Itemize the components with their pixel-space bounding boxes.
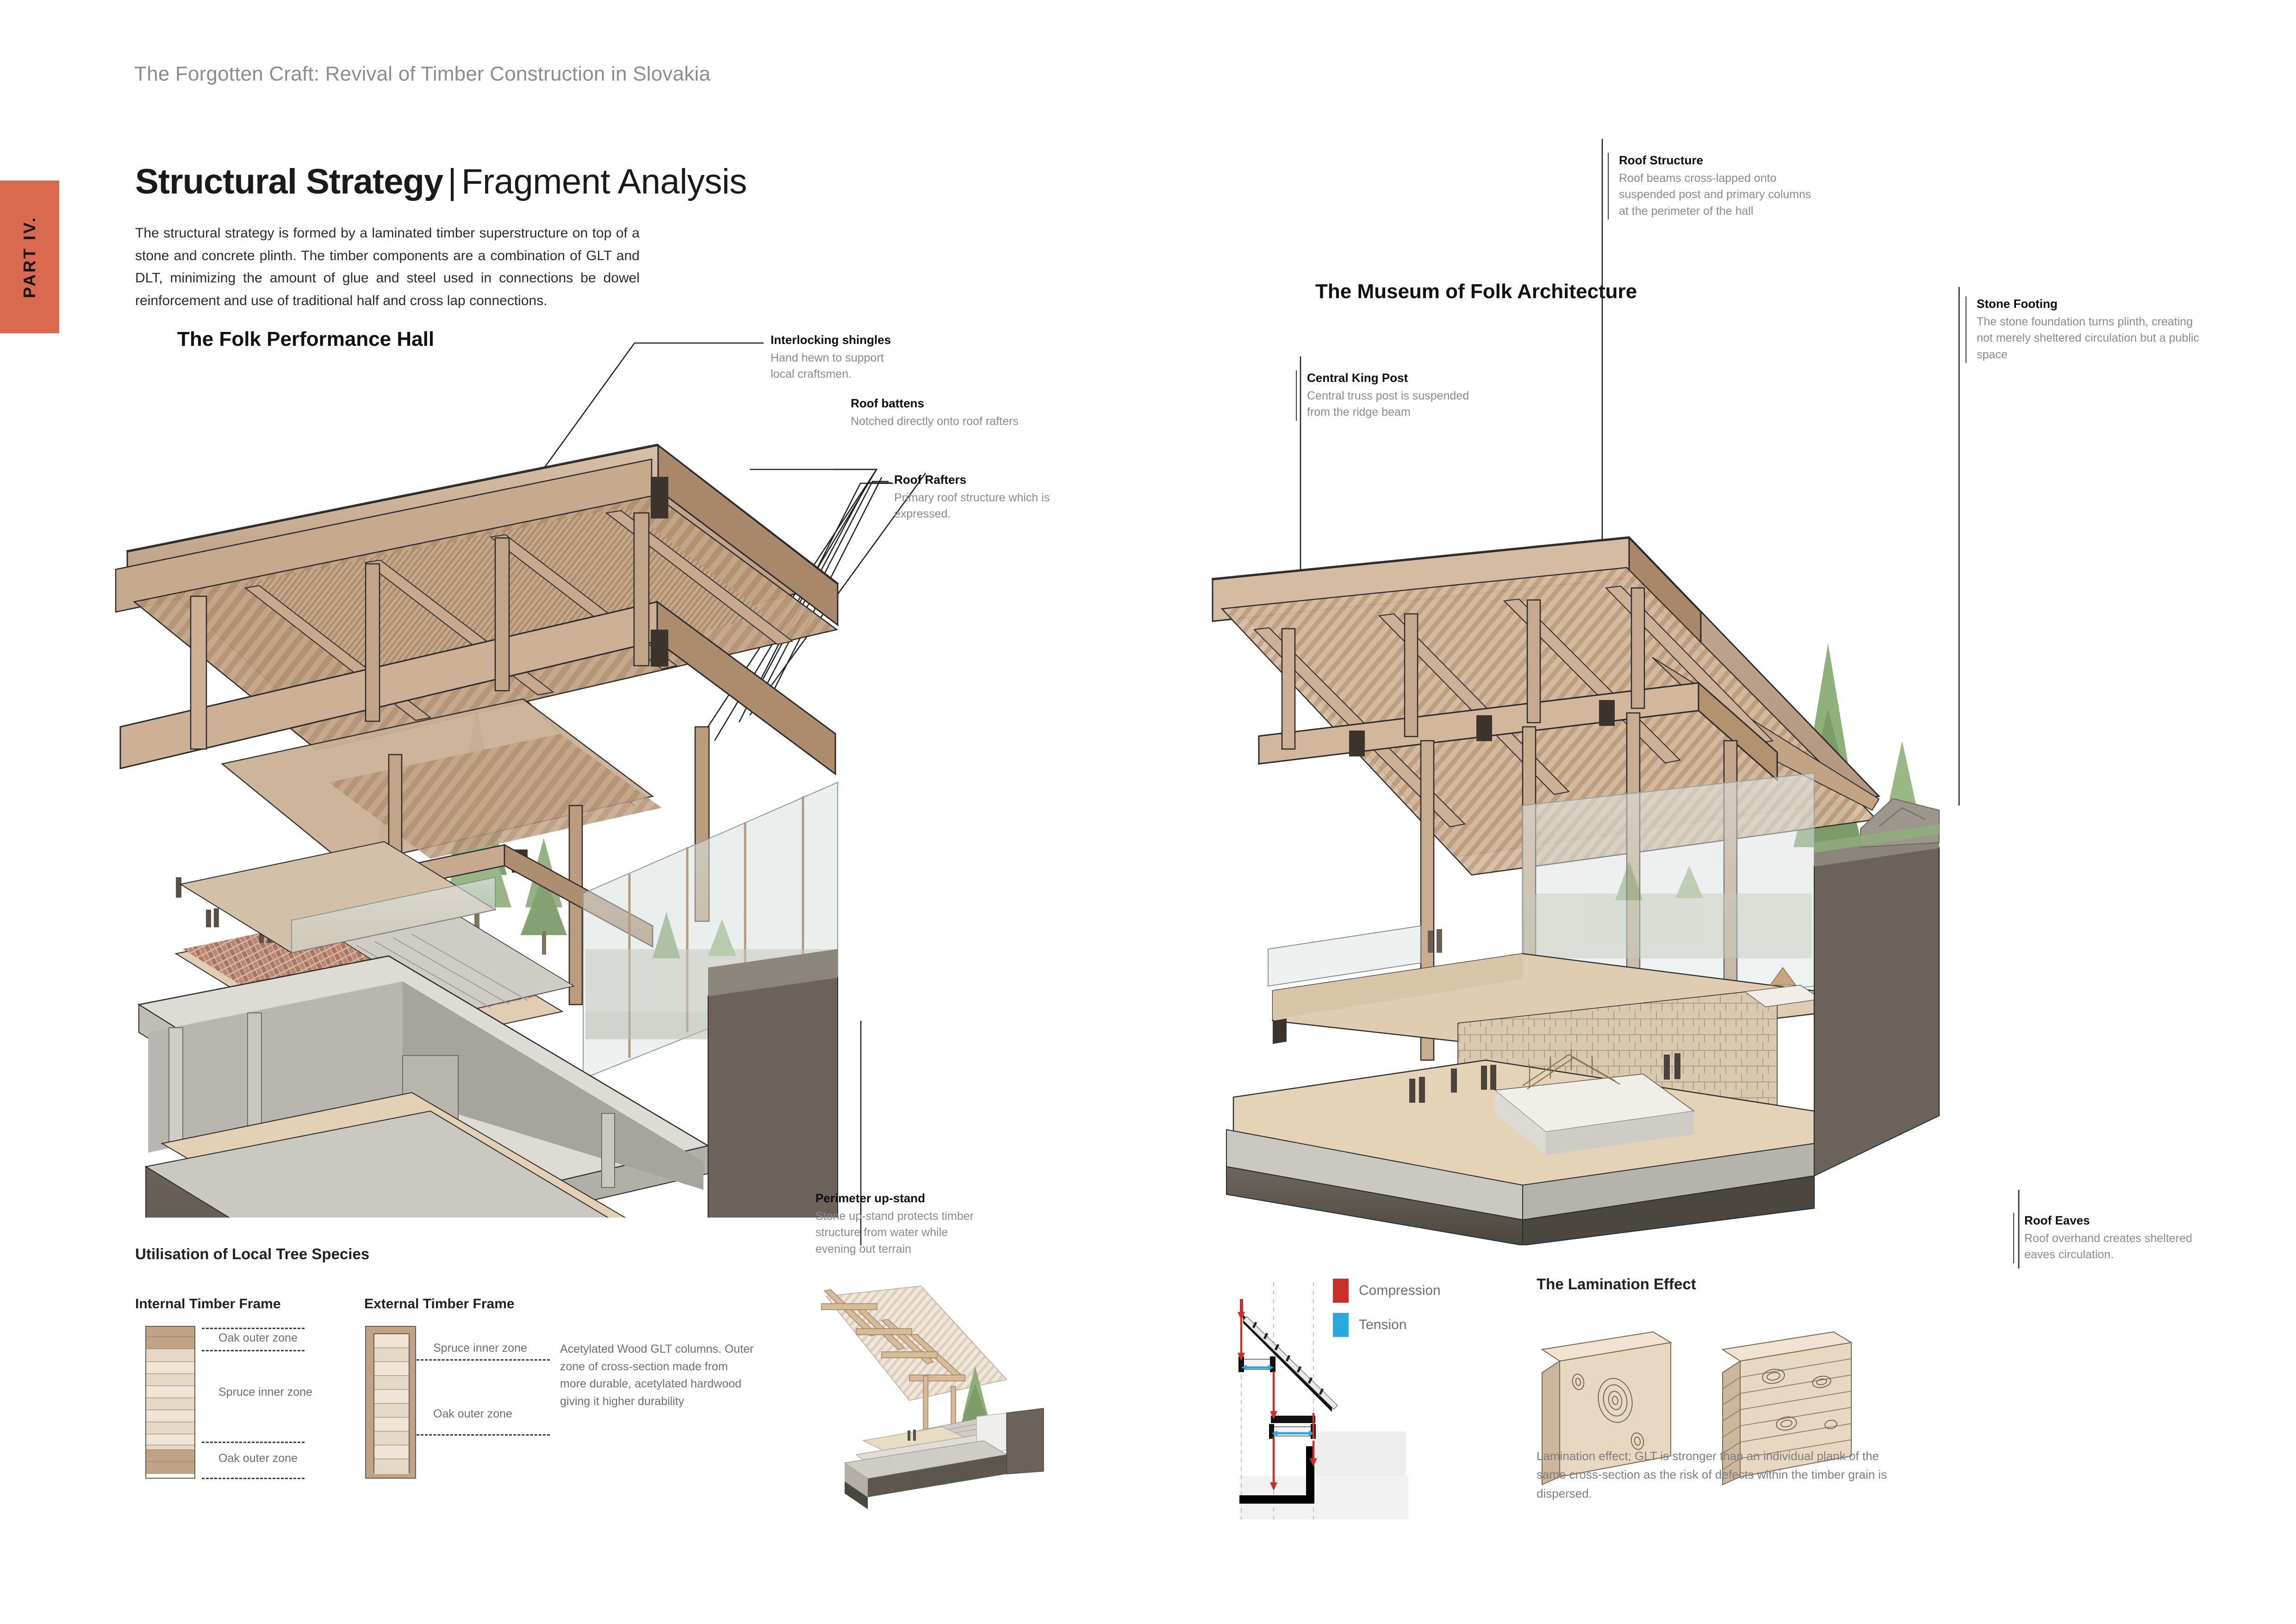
internal-frame-title: Internal Timber Frame <box>135 1296 281 1312</box>
force-diagram <box>1231 1268 1527 1523</box>
callout-title: Roof Eaves <box>2024 1213 2228 1229</box>
internal-label-spruce: Spruce inner zone <box>218 1386 312 1399</box>
callout-body: Notched directly onto roof rafters <box>851 413 1059 430</box>
page-title-rule: | <box>443 162 461 201</box>
internal-dash-lowmid <box>202 1442 305 1443</box>
callout-stone-footing: Stone Footing The stone foundation turns… <box>1966 296 2217 363</box>
part-tab: PART IV. <box>0 181 59 333</box>
museum-of-folk-architecture-render <box>1199 523 2115 1245</box>
external-label-oak: Oak outer zone <box>433 1407 512 1421</box>
lamination-section-title: The Lamination Effect <box>1537 1275 1696 1293</box>
callout-title: Roof Structure <box>1619 153 1841 169</box>
callout-perimeter-upstand: Perimeter up-stand Stone up-stand protec… <box>815 1191 1001 1257</box>
tension-label: Tension <box>1359 1317 1406 1333</box>
callout-body: Primary roof structure which is expresse… <box>894 490 1052 523</box>
callout-body: Roof beams cross-lapped onto suspended p… <box>1619 170 1823 220</box>
callout-interlocking-shingles: Interlocking shingles Hand hewn to suppo… <box>771 332 965 383</box>
callout-roof-battens: Roof battens Notched directly onto roof … <box>851 396 1059 430</box>
callout-title: Stone Footing <box>1977 296 2217 312</box>
internal-dash-top <box>202 1328 305 1329</box>
callout-roof-eaves: Roof Eaves Roof overhand creates shelter… <box>2013 1213 2228 1263</box>
perimeter-upstand-inset-render <box>812 1278 1090 1528</box>
running-head: The Forgotten Craft: Revival of Timber C… <box>134 62 710 86</box>
legend-tension: Tension <box>1333 1313 1406 1337</box>
callout-body: Central truss post is suspended from the… <box>1307 388 1487 421</box>
callout-body: Roof overhand creates sheltered eaves ci… <box>2024 1230 2209 1263</box>
external-label-spruce: Spruce inner zone <box>433 1342 527 1355</box>
callout-title: Perimeter up-stand <box>815 1191 1001 1206</box>
external-column-section <box>365 1326 416 1479</box>
museum-scene-title: The Museum of Folk Architecture <box>1315 280 1637 303</box>
callout-title: Interlocking shingles <box>771 332 965 348</box>
callout-title: Central King Post <box>1307 370 1511 386</box>
legend-compression: Compression <box>1333 1279 1441 1303</box>
callout-title: Roof battens <box>851 396 1059 412</box>
callout-roof-rafters: Roof Rafters Primary roof structure whic… <box>894 472 1079 523</box>
hall-scene-title: The Folk Performance Hall <box>177 328 434 351</box>
callout-central-king-post: Central King Post Central truss post is … <box>1296 370 1511 421</box>
external-dash-inner <box>417 1359 550 1361</box>
page-title-light: Fragment Analysis <box>461 162 747 201</box>
page-title: Structural Strategy|Fragment Analysis <box>135 164 747 200</box>
species-section-title: Utilisation of Local Tree Species <box>135 1245 369 1263</box>
external-inner-core <box>373 1333 410 1473</box>
internal-dash-bottom <box>202 1478 305 1479</box>
lamination-caption: Lamination effect; GLT is stronger than … <box>1537 1447 1911 1503</box>
page-title-bold: Structural Strategy <box>135 162 443 201</box>
intro-paragraph: The structural strategy is formed by a l… <box>135 222 640 312</box>
compression-swatch <box>1333 1279 1349 1303</box>
glt-columns-note: Acetylated Wood GLT columns. Outer zone … <box>560 1341 754 1410</box>
callout-body: Hand hewn to support local craftsmen. <box>771 350 909 383</box>
internal-label-oak-bottom: Oak outer zone <box>218 1452 298 1465</box>
callout-body: Stone up-stand protects timber structure… <box>815 1208 989 1258</box>
callout-roof-structure: Roof Structure Roof beams cross-lapped o… <box>1608 153 1841 219</box>
internal-dash-mid <box>202 1350 305 1351</box>
part-tab-label: PART IV. <box>20 216 39 298</box>
folk-performance-hall-render <box>106 431 1032 1218</box>
compression-label: Compression <box>1359 1283 1441 1299</box>
external-dash-outer <box>417 1434 550 1436</box>
callout-body: The stone foundation turns plinth, creat… <box>1977 314 2203 363</box>
tension-swatch <box>1333 1313 1349 1337</box>
callout-title: Roof Rafters <box>894 472 1079 488</box>
internal-label-oak-top: Oak outer zone <box>218 1331 298 1345</box>
external-frame-title: External Timber Frame <box>364 1296 515 1312</box>
internal-column-section <box>145 1326 195 1479</box>
